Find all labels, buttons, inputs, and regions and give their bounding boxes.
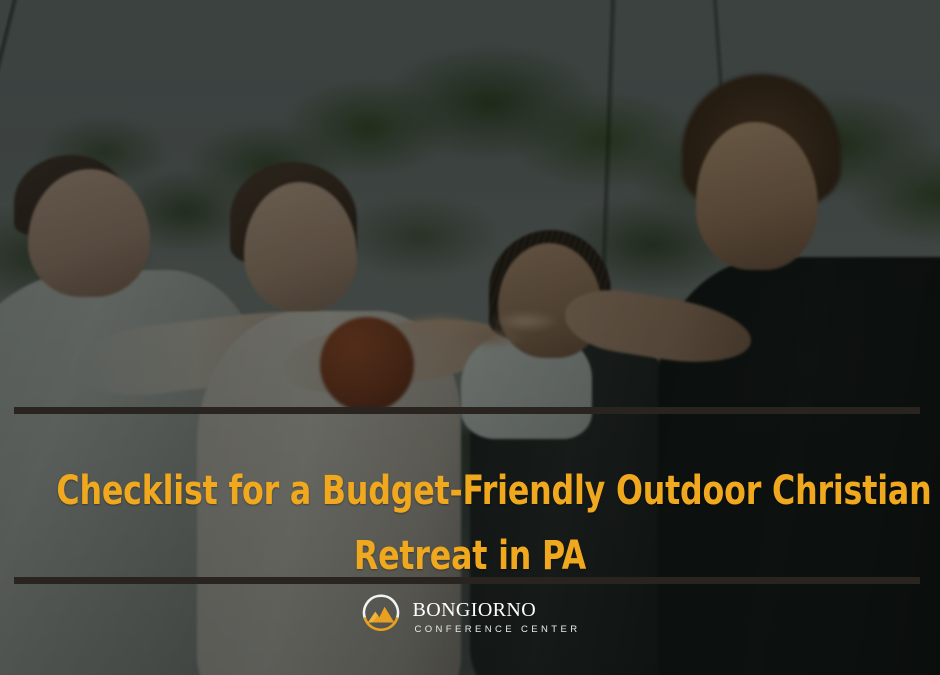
divider-rule-top: [14, 407, 920, 414]
page-title: Checklist for a Budget-Friendly Outdoor …: [56, 459, 883, 589]
featured-image-banner: Checklist for a Budget-Friendly Outdoor …: [0, 0, 940, 675]
logo-tagline: CONFERENCE CENTER: [412, 625, 580, 635]
page-title-line-1: Checklist for a Budget-Friendly Outdoor …: [56, 459, 883, 524]
logo-wordmark: BONGIORNO CONFERENCE CENTER: [412, 594, 580, 635]
mountain-in-circle-icon: [359, 592, 403, 636]
brand-logo[interactable]: BONGIORNO CONFERENCE CENTER: [0, 592, 940, 636]
logo-company-name: BONGIORNO: [412, 594, 580, 622]
text-overlay: Checklist for a Budget-Friendly Outdoor …: [0, 0, 940, 675]
page-title-line-2: Retreat in PA: [56, 524, 883, 589]
